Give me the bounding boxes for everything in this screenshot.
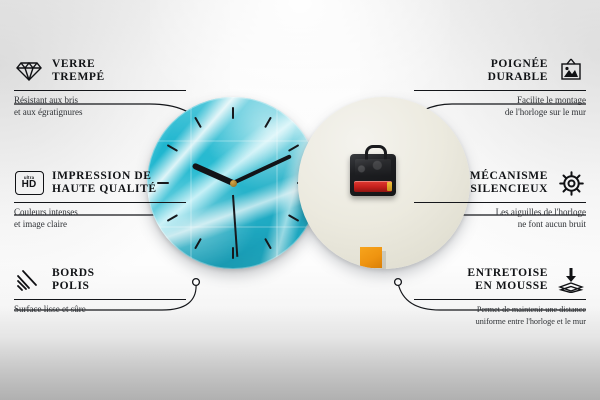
feature-mecanisme-silencieux: MÉCANISME SILENCIEUX Les aiguilles de l'… xyxy=(414,168,586,230)
ultra-hd-icon: ultra HD xyxy=(14,168,44,198)
feature-header: MÉCANISME SILENCIEUX xyxy=(414,168,586,198)
dial-tick xyxy=(232,107,234,183)
infographic-canvas: VERRE TREMPÉ Résistant aux bris et aux é… xyxy=(0,0,600,400)
connector-dot-3 xyxy=(193,279,200,286)
feature-description: Facilite le montage de l'horloge sur le … xyxy=(414,95,586,118)
feature-header: BORDS POLIS xyxy=(14,265,186,295)
feature-entretoise-mousse: ENTRETOISE EN MOUSSE Permet de maintenir… xyxy=(414,265,586,327)
feature-header: ENTRETOISE EN MOUSSE xyxy=(414,265,586,295)
feature-rule xyxy=(414,299,586,300)
foam-spacer xyxy=(360,247,382,268)
hands-center-cap xyxy=(230,180,237,187)
feature-description: Résistant aux bris et aux égratignures xyxy=(14,95,186,118)
feature-bords-polis: BORDS POLIS Surface lisse et sûre xyxy=(14,265,186,316)
feature-rule xyxy=(14,202,186,203)
feature-rule xyxy=(14,299,186,300)
mechanism-housing-detail xyxy=(355,159,391,177)
feature-title: POIGNÉE DURABLE xyxy=(488,58,548,85)
feature-title: IMPRESSION DE HAUTE QUALITÉ xyxy=(52,170,157,197)
clock-mechanism xyxy=(350,154,396,196)
diamond-icon xyxy=(14,56,44,86)
feature-rule xyxy=(414,202,586,203)
feature-title: MÉCANISME SILENCIEUX xyxy=(470,170,548,197)
gear-icon xyxy=(556,168,586,198)
feature-impression-haute-qualite: ultra HD IMPRESSION DE HAUTE QUALITÉ Cou… xyxy=(14,168,186,230)
feature-header: POIGNÉE DURABLE xyxy=(414,56,586,86)
feature-header: ultra HD IMPRESSION DE HAUTE QUALITÉ xyxy=(14,168,186,198)
connector-dot-6 xyxy=(395,279,402,286)
feature-description: Permet de maintenir une distance uniform… xyxy=(414,304,586,327)
hanging-loop xyxy=(365,145,387,160)
feature-description: Les aiguilles de l'horloge ne font aucun… xyxy=(414,207,586,230)
polished-edges-icon xyxy=(14,265,44,295)
feature-title: BORDS POLIS xyxy=(52,267,95,294)
foam-spacer-icon xyxy=(556,265,586,295)
feature-verre-trempe: VERRE TREMPÉ Résistant aux bris et aux é… xyxy=(14,56,186,118)
feature-poignee-durable: POIGNÉE DURABLE Facilite le montage de l… xyxy=(414,56,586,118)
battery xyxy=(354,181,392,192)
feature-description: Surface lisse et sûre xyxy=(14,304,186,316)
feature-rule xyxy=(414,90,586,91)
feature-title: ENTRETOISE EN MOUSSE xyxy=(467,267,548,294)
feature-rule xyxy=(14,90,186,91)
hanging-frame-icon xyxy=(556,56,586,86)
feature-title: VERRE TREMPÉ xyxy=(52,58,105,85)
feature-header: VERRE TREMPÉ xyxy=(14,56,186,86)
feature-description: Couleurs intenses et image claire xyxy=(14,207,186,230)
